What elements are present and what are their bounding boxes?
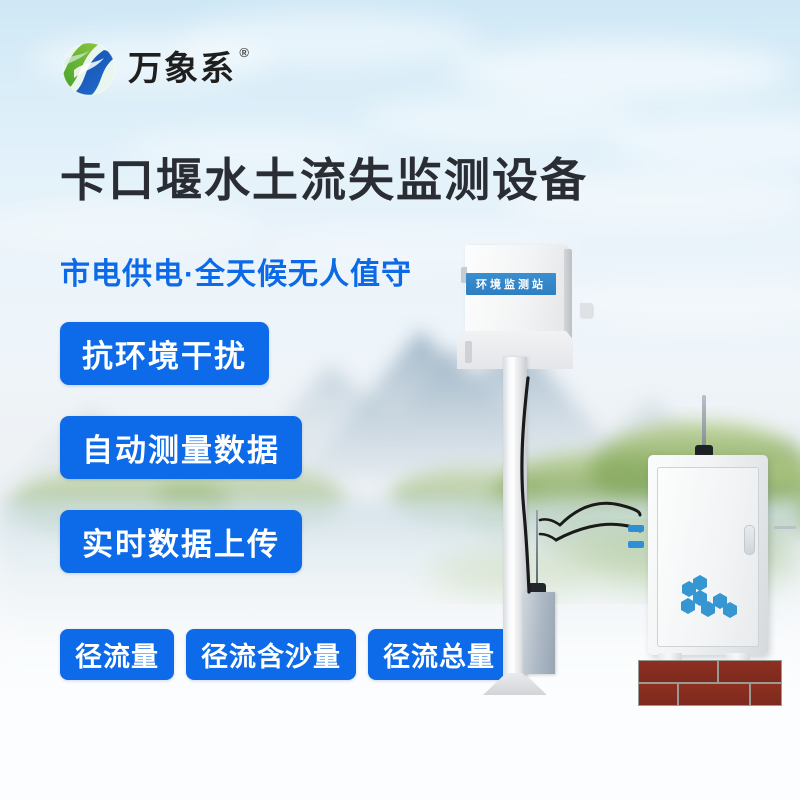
brick-row-bottom bbox=[638, 683, 782, 706]
brick bbox=[638, 683, 678, 706]
measurement-tag-1[interactable]: 径流含沙量 bbox=[186, 629, 356, 680]
brand-name: 万象系 bbox=[128, 50, 236, 88]
brand-logo: 万象系® bbox=[60, 40, 236, 98]
brick-row-top bbox=[638, 660, 782, 683]
page-subtitle: 市电供电·全天候无人值守 bbox=[60, 258, 412, 291]
station-pole-highlight bbox=[511, 357, 515, 679]
product-poster: 万象系® 卡口堰水土流失监测设备 市电供电·全天候无人值守 抗环境干扰 自动测量… bbox=[0, 0, 800, 800]
brand-name-wrap: 万象系® bbox=[128, 52, 236, 86]
cable-gland-2 bbox=[628, 541, 644, 548]
globe-swoosh-logo-icon bbox=[60, 40, 118, 98]
measurement-tag-0[interactable]: 径流量 bbox=[60, 629, 174, 680]
station-sign: 环境监测站 bbox=[466, 273, 556, 295]
cable-gland-group bbox=[628, 523, 654, 557]
station-vent bbox=[465, 341, 472, 363]
cabinet-antenna-icon bbox=[702, 395, 706, 451]
station-pole-foot bbox=[483, 673, 547, 695]
feature-pill-1[interactable]: 自动测量数据 bbox=[60, 416, 302, 479]
cabinet-door-handle[interactable] bbox=[744, 525, 755, 555]
trademark-symbol: ® bbox=[239, 46, 251, 59]
measurement-tag-list: 径流量 径流含沙量 径流总量 bbox=[60, 629, 510, 680]
brick bbox=[638, 660, 718, 683]
page-title: 卡口堰水土流失监测设备 bbox=[60, 155, 588, 206]
feature-pill-0[interactable]: 抗环境干扰 bbox=[60, 322, 269, 385]
cable-gland-1 bbox=[628, 525, 644, 532]
cabinet-body bbox=[648, 455, 768, 655]
feature-pill-2[interactable]: 实时数据上传 bbox=[60, 510, 302, 573]
cabinet-side-arm bbox=[774, 526, 796, 529]
sensor-antenna-icon bbox=[536, 510, 538, 588]
environment-monitoring-station: 环境监测站 bbox=[455, 245, 580, 705]
hexagon-honeycomb-decal-icon bbox=[668, 575, 742, 625]
brick bbox=[750, 683, 782, 706]
station-bracket-right bbox=[580, 303, 592, 317]
flow-sensor-box bbox=[523, 592, 555, 674]
brick bbox=[678, 683, 750, 706]
feature-list: 抗环境干扰 自动测量数据 实时数据上传 bbox=[60, 322, 302, 573]
brick bbox=[718, 660, 782, 683]
brick-foundation bbox=[638, 660, 782, 708]
